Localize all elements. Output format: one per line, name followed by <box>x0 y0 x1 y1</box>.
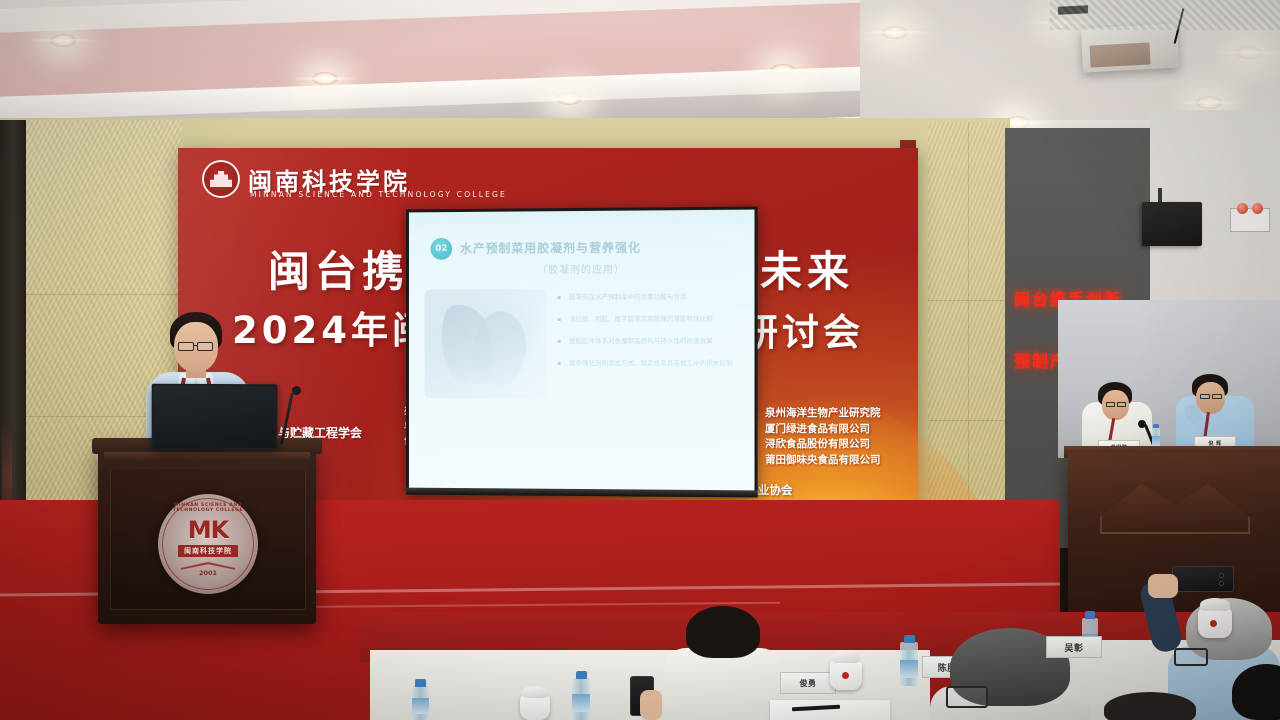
teacup-lid <box>1200 598 1230 611</box>
projection-screen: 02 水产预制菜用胶凝剂与营养强化 （胶凝剂的应用） 胶凝剂在水产预制菜中的主要… <box>406 207 758 498</box>
glasses-icon <box>1106 402 1115 407</box>
glasses-bridge <box>193 345 198 346</box>
bottle-cap <box>1153 424 1159 428</box>
downlight-icon <box>556 92 582 105</box>
slide-bullet: 营养强化剂的添加方式、稳定性及其在加工中的损失控制 <box>557 359 748 368</box>
water-bottle[interactable] <box>572 678 590 720</box>
slide-number-badge: 02 <box>431 238 453 260</box>
sponsor-item: 莆田御味央食品有限公司 <box>765 453 881 469</box>
downlight-icon <box>770 64 796 77</box>
bottle-cap <box>415 679 426 687</box>
glasses-icon <box>1212 394 1222 399</box>
teacup-emblem <box>842 672 849 679</box>
bottle-label <box>572 694 590 712</box>
downlight-icon <box>50 34 76 47</box>
exit-lamp-icon <box>1252 203 1263 214</box>
podium-seal: MINNAN SCIENCE AND TECHNOLOGY COLLEGE MK… <box>158 494 258 594</box>
audience-placard: 吴彰 <box>1046 636 1102 658</box>
bottle-cap <box>1085 611 1095 619</box>
glasses-icon <box>178 342 194 351</box>
glasses-icon <box>1200 394 1210 399</box>
projector-lens <box>1089 42 1150 67</box>
slide-surface: 02 水产预制菜用胶凝剂与营养强化 （胶凝剂的应用） 胶凝剂在水产预制菜中的主要… <box>409 210 755 495</box>
audience-person-hair <box>1104 692 1196 720</box>
smartphone[interactable] <box>1172 566 1234 592</box>
sponsor-item: 泉州海洋生物产业研究院 <box>765 406 881 422</box>
audience-placard: 俊勇 <box>780 672 836 694</box>
seal-english-text: MINNAN SCIENCE AND TECHNOLOGY COLLEGE <box>158 503 258 513</box>
slide-subtitle: （胶凝剂的应用） <box>537 261 625 276</box>
glasses-icon <box>946 686 988 708</box>
sponsor-item: 厦门绿进食品有限公司 <box>765 422 881 438</box>
laptop-screen[interactable] <box>152 384 278 450</box>
bottle-label <box>1152 436 1160 446</box>
water-bottle[interactable] <box>900 642 918 686</box>
panel-seam <box>26 294 182 295</box>
banner-subtitle-left: 2024年闽 <box>232 300 433 354</box>
school-logo-glyph <box>210 171 232 187</box>
slide-bullet-list: 胶凝剂在水产预制菜中的主要功能与分类 卡拉胶、明胶、魔芋胶等常用胶体的凝胶特性比… <box>557 292 748 381</box>
doorway-left[interactable] <box>0 120 26 520</box>
downlight-icon <box>312 72 338 85</box>
glasses-icon <box>1174 648 1208 666</box>
bottle-cap <box>576 671 587 679</box>
conference-hall-scene: 闽台携手创新 预制产业未来 闽南科技学院 MINNAN SCIENCE AND … <box>0 0 1280 720</box>
slide-header-band <box>409 210 755 243</box>
panel-microphone-icon <box>1138 420 1146 428</box>
bottle-cap <box>904 635 915 643</box>
phone-camera-icon <box>1219 573 1224 578</box>
paper-sheet[interactable] <box>770 700 890 720</box>
exit-lamp-icon <box>1237 203 1248 214</box>
teacup-lid <box>522 686 548 698</box>
water-bottle[interactable] <box>412 686 429 720</box>
glasses-icon <box>1117 402 1126 407</box>
teacup-lid <box>832 650 860 663</box>
sponsor-item: 浔欣食品股份有限公司 <box>765 437 881 453</box>
slide-bullet: 胶凝剂在水产预制菜中的主要功能与分类 <box>557 292 748 302</box>
emergency-exit-light <box>1230 208 1270 232</box>
slide-bullet: 复配胶体体系对鱼糜制品质构与持水性的改善效果 <box>557 337 748 346</box>
downlight-icon <box>1196 96 1222 109</box>
podium-shelf <box>104 452 310 460</box>
banner-sponsor-list: 泉州海洋生物产业研究院 厦门绿进食品有限公司 浔欣食品股份有限公司 莆田御味央食… <box>765 406 881 468</box>
audience-person-body <box>664 648 782 720</box>
slide-bullet: 卡拉胶、明胶、魔芋胶等常用胶体的凝胶特性比较 <box>557 315 748 324</box>
audience-person-hair <box>686 606 760 658</box>
ceiling-grille <box>1050 0 1280 30</box>
banner-title-left: 闽台携 <box>268 238 409 299</box>
bottle-label <box>900 660 918 678</box>
banner-title-right: 未来 <box>760 238 854 299</box>
bottle-label <box>412 698 429 714</box>
phone-camera-icon <box>1219 581 1224 586</box>
wall-speaker-icon <box>1142 202 1202 246</box>
slide-title: 水产预制菜用胶凝剂与营养强化 <box>460 239 641 257</box>
slide-image <box>425 289 547 399</box>
school-logo-icon <box>202 160 240 198</box>
glasses-icon <box>197 342 213 351</box>
photographer-hand <box>1148 574 1178 598</box>
downlight-icon <box>882 26 908 39</box>
teacup-emblem <box>1210 620 1217 627</box>
audience-hand <box>640 690 662 720</box>
downlight-icon <box>1236 46 1262 59</box>
microphone-icon <box>292 386 301 395</box>
banner-school-name-en: MINNAN SCIENCE AND TECHNOLOGY COLLEGE <box>250 190 507 199</box>
